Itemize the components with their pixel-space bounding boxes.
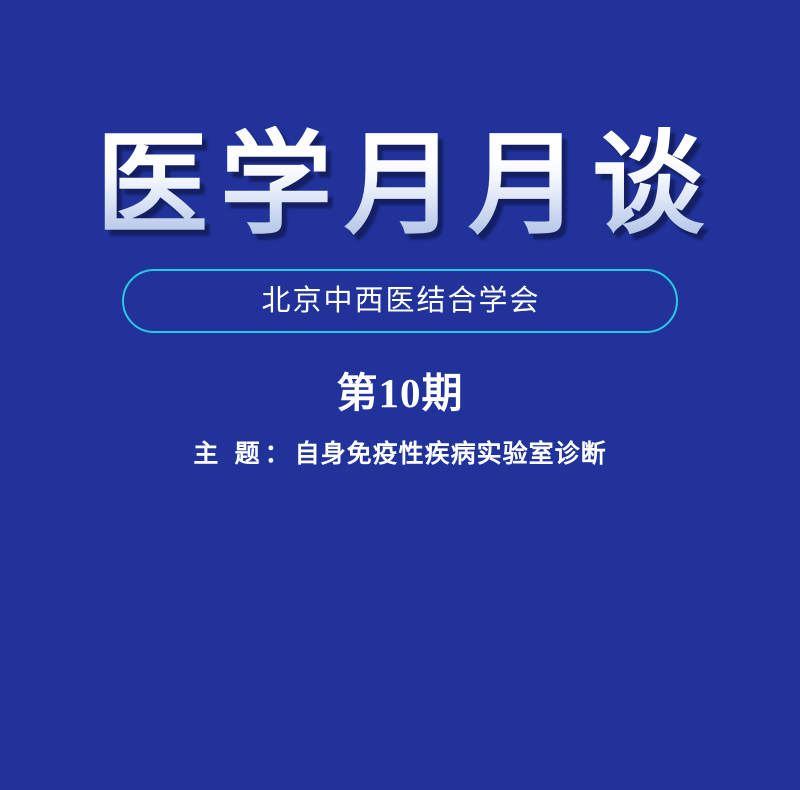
topic-line: 主 题：自身免疫性疾病实验室诊断 xyxy=(0,441,800,470)
issue-number: 第10期 xyxy=(0,372,800,415)
topic-label: 主 题： xyxy=(193,441,294,468)
poster-canvas: 医学月月谈 医学月月谈 北京中西医结合学会 第10期 主 题：自身免疫性疾病实验… xyxy=(0,0,800,790)
poster-title: 医学月月谈 医学月月谈 xyxy=(0,126,800,247)
organization-name: 北京中西医结合学会 xyxy=(259,287,540,316)
organization-pill: 北京中西医结合学会 xyxy=(122,269,678,333)
topic-value: 自身免疫性疾病实验室诊断 xyxy=(295,441,607,468)
poster-title-text: 医学月月谈 xyxy=(0,126,800,247)
